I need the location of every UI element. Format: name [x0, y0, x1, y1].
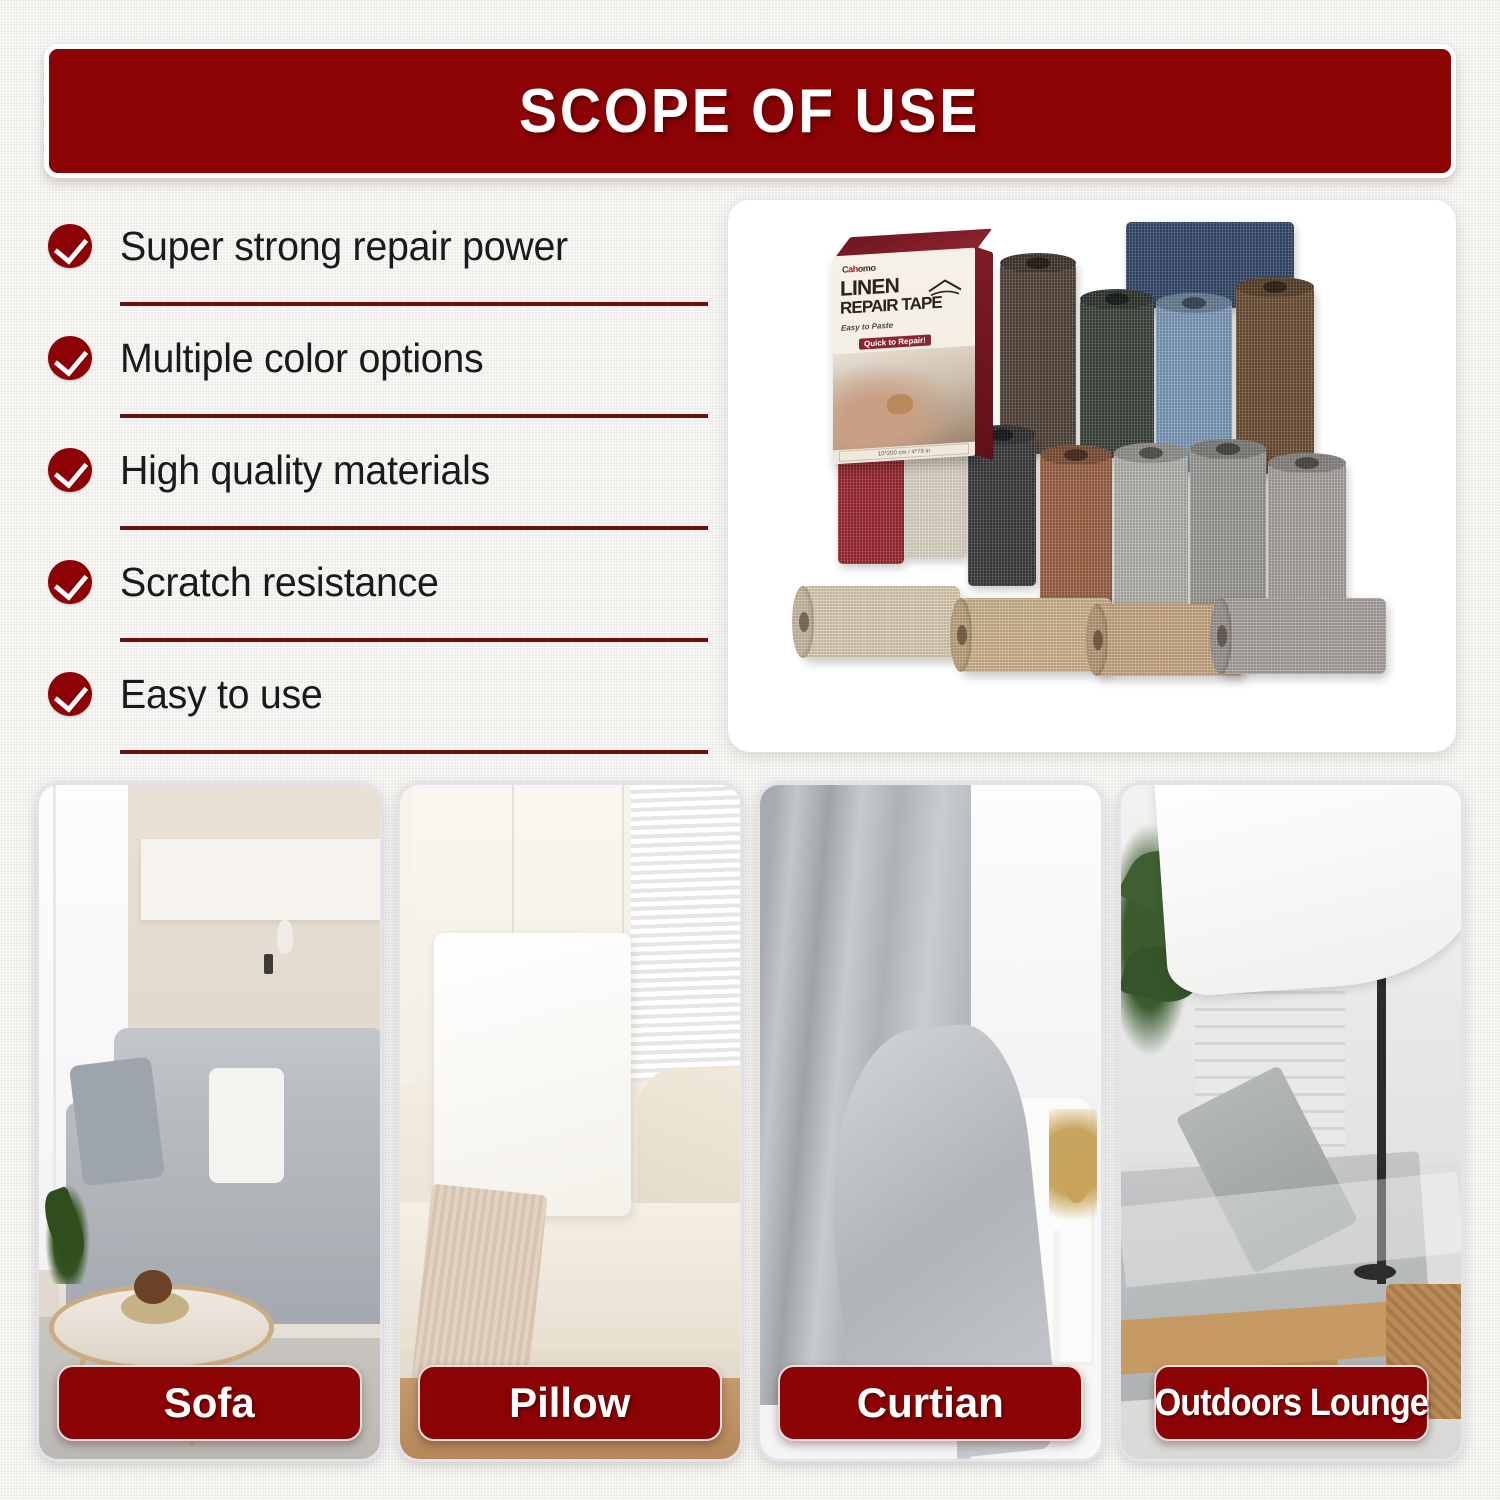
use-case-card-sofa[interactable]: Sofa — [36, 782, 383, 1462]
box-tagline-repair: Quick to Repair! — [859, 334, 931, 349]
box-title-line2: REPAIR TAPE — [840, 295, 942, 317]
feature-divider — [120, 638, 708, 642]
tape-roll-taupe-gray-lying — [1220, 598, 1386, 674]
list-item: Easy to use — [48, 648, 708, 760]
feature-label: High quality materials — [120, 447, 490, 494]
check-circle-icon — [48, 560, 92, 604]
box-side-face — [973, 246, 993, 461]
check-circle-icon — [48, 336, 92, 380]
status-badge: Sofa — [57, 1365, 362, 1441]
list-item: Scratch resistance — [48, 536, 708, 648]
status-badge: Curtian — [778, 1365, 1083, 1441]
tape-roll-dark-green — [1080, 298, 1154, 458]
product-box: Cahomo LINEN REPAIR TAPE Easy to Paste Q… — [833, 248, 975, 465]
outdoors-lounge-photo — [1121, 785, 1462, 1459]
dog-illustration — [887, 394, 913, 416]
tape-roll-beige-lying — [802, 586, 960, 658]
box-lifestyle-photo — [833, 346, 975, 451]
tape-roll-rust — [1040, 454, 1112, 622]
use-case-card-outdoors-lounge[interactable]: Outdoors Lounge — [1118, 782, 1465, 1462]
house-arch-icon — [927, 276, 963, 296]
page-title: SCOPE OF USE — [519, 76, 980, 147]
feature-label: Multiple color options — [120, 335, 483, 382]
status-badge: Pillow — [418, 1365, 723, 1441]
page-header-banner: SCOPE OF USE — [44, 44, 1456, 178]
list-item: Multiple color options — [48, 312, 708, 424]
feature-divider — [120, 750, 708, 754]
feature-label: Scratch resistance — [120, 559, 439, 606]
status-badge: Outdoors Lounge — [1154, 1365, 1428, 1441]
brand-logo: Cahomo — [842, 263, 876, 275]
feature-divider — [120, 302, 708, 306]
tape-roll-black — [968, 434, 1036, 586]
curtain-photo — [760, 785, 1101, 1459]
use-case-gallery: Sofa Pillow — [36, 782, 1464, 1462]
product-image-card: Cahomo LINEN REPAIR TAPE Easy to Paste Q… — [728, 200, 1456, 752]
check-circle-icon — [48, 448, 92, 492]
use-case-card-pillow[interactable]: Pillow — [397, 782, 744, 1462]
tape-roll-gray — [1190, 448, 1266, 620]
check-circle-icon — [48, 224, 92, 268]
pillow-photo — [400, 785, 741, 1459]
check-circle-icon — [48, 672, 92, 716]
tape-rolls-photo: Cahomo LINEN REPAIR TAPE Easy to Paste Q… — [728, 200, 1456, 752]
feature-divider — [120, 526, 708, 530]
feature-label: Easy to use — [120, 671, 323, 718]
use-case-card-curtain[interactable]: Curtian — [757, 782, 1104, 1462]
list-item: High quality materials — [48, 424, 708, 536]
sofa-photo — [39, 785, 380, 1459]
feature-label: Super strong repair power — [120, 223, 568, 270]
feature-list: Super strong repair power Multiple color… — [48, 200, 708, 760]
feature-divider — [120, 414, 708, 418]
box-front-face: Cahomo LINEN REPAIR TAPE Easy to Paste Q… — [833, 248, 975, 465]
box-tagline-paste: Easy to Paste — [841, 321, 893, 333]
list-item: Super strong repair power — [48, 200, 708, 312]
